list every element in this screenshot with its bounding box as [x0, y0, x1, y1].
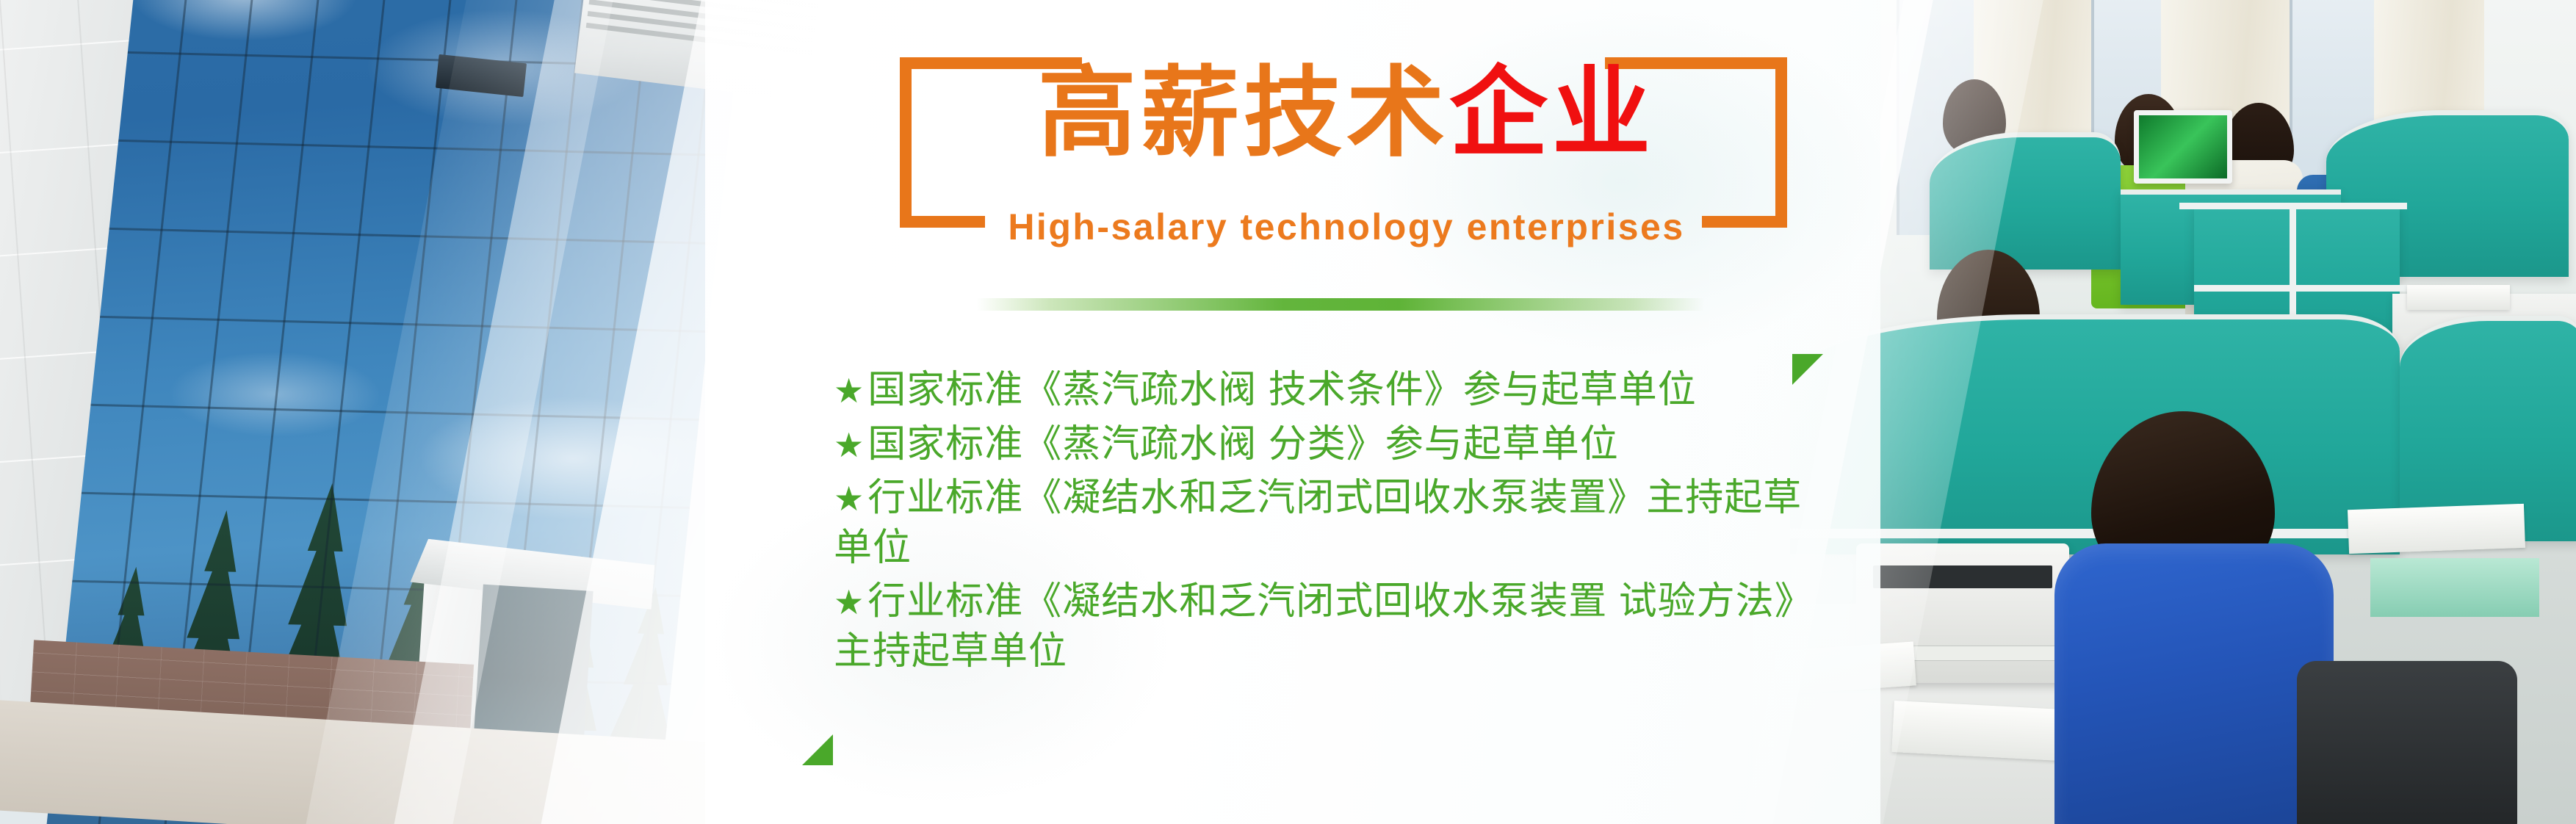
star-icon: ★: [834, 583, 865, 621]
triangle-marker-top-right: [1792, 354, 1823, 385]
green-folder-stack: [2370, 558, 2539, 617]
star-icon: ★: [834, 426, 865, 464]
computer-monitor: [2134, 110, 2232, 184]
banner-title: 高薪技术企业: [928, 65, 1765, 163]
achievement-list: ★国家标准《蒸汽疏水阀 技术条件》参与起草单位 ★国家标准《蒸汽疏水阀 分类》参…: [834, 366, 1803, 682]
list-item-text: 国家标准《蒸汽疏水阀 分类》参与起草单位: [867, 423, 1618, 466]
list-item: ★国家标准《蒸汽疏水阀 分类》参与起草单位: [834, 420, 1803, 470]
banner-subtitle: High-salary technology enterprises: [928, 209, 1765, 245]
green-divider-line: [977, 298, 1704, 311]
frame-right-bar: [1775, 57, 1787, 228]
list-item: ★行业标准《凝结水和乏汽闭式回收水泵装置》主持起草单位: [834, 474, 1803, 573]
list-item-text: 行业标准《凝结水和乏汽闭式回收水泵装置 试验方法》主持起草单位: [834, 580, 1794, 673]
monitor-screen: [2139, 115, 2227, 178]
office-chair: [2297, 661, 2517, 824]
partition-rail: [2194, 285, 2407, 292]
promotional-banner: 高薪技术企业 High-salary technology enterprise…: [0, 0, 2576, 824]
worker-blue-jacket: [2054, 543, 2334, 824]
list-item-text: 国家标准《蒸汽疏水阀 技术条件》参与起草单位: [867, 369, 1696, 411]
star-icon: ★: [834, 480, 865, 518]
list-item: ★国家标准《蒸汽疏水阀 技术条件》参与起草单位: [834, 366, 1803, 416]
list-item-text: 行业标准《凝结水和乏汽闭式回收水泵装置》主持起草单位: [834, 477, 1802, 569]
printer-paper-slot: [1873, 565, 2052, 588]
paper-stack: [2407, 285, 2510, 310]
title-red-part: 企业: [1449, 59, 1655, 168]
title-orange-part: 高薪技术: [1038, 59, 1449, 168]
paper-stack: [2348, 504, 2525, 554]
list-item: ★行业标准《凝结水和乏汽闭式回收水泵装置 试验方法》主持起草单位: [834, 577, 1803, 676]
triangle-marker-bottom-left: [802, 734, 833, 765]
star-icon: ★: [834, 372, 865, 410]
frame-left-bar: [900, 57, 912, 228]
paper-stack: [1891, 701, 2063, 761]
cubicle-partition: [1930, 132, 2121, 270]
